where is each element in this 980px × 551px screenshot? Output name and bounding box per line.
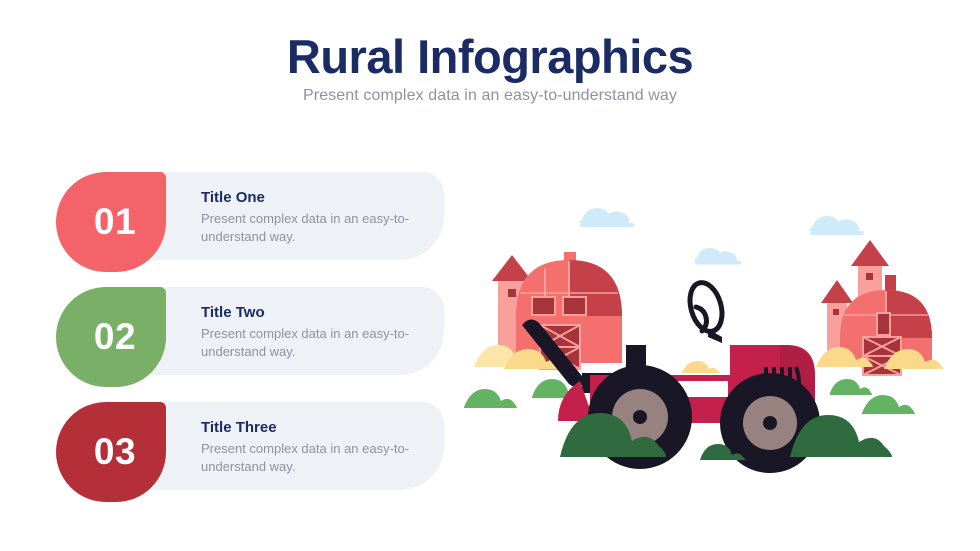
list-item-text: Title One Present complex data in an eas… [201, 189, 451, 245]
rural-farm-illustration [460, 185, 960, 475]
list-item-badge-03[interactable]: 03 [56, 402, 166, 502]
list-item-title: Title Two [201, 304, 451, 321]
cloud-icon [694, 248, 741, 265]
list-item-number: 02 [94, 316, 136, 358]
slide-canvas: Rural Infographics Present complex data … [0, 0, 980, 551]
list-item[interactable]: 03 Title Three Present complex data in a… [56, 402, 456, 502]
list-item-number: 01 [94, 201, 136, 243]
bush-light [830, 379, 872, 395]
header: Rural Infographics Present complex data … [0, 32, 980, 105]
list-item-description: Present complex data in an easy-to-under… [201, 440, 451, 475]
list-item-title: Title Three [201, 419, 451, 436]
list-item-badge-02[interactable]: 02 [56, 287, 166, 387]
bush-light [464, 389, 517, 408]
list-item-badge-01[interactable]: 01 [56, 172, 166, 272]
list-item-text: Title Two Present complex data in an eas… [201, 304, 451, 360]
list-item-title: Title One [201, 189, 451, 206]
bush-light [862, 395, 915, 414]
cloud-icon [579, 208, 634, 227]
page-subtitle: Present complex data in an easy-to-under… [0, 87, 980, 105]
list-item[interactable]: 01 Title One Present complex data in an … [56, 172, 456, 272]
list-item-description: Present complex data in an easy-to-under… [201, 210, 451, 245]
list-item-number: 03 [94, 431, 136, 473]
page-title: Rural Infographics [0, 32, 980, 81]
list-item-description: Present complex data in an easy-to-under… [201, 325, 451, 360]
list-item[interactable]: 02 Title Two Present complex data in an … [56, 287, 456, 387]
hay-mound [682, 361, 720, 373]
list-item-text: Title Three Present complex data in an e… [201, 419, 451, 475]
infographic-list: 01 Title One Present complex data in an … [56, 172, 456, 517]
cloud-icon [809, 216, 864, 235]
